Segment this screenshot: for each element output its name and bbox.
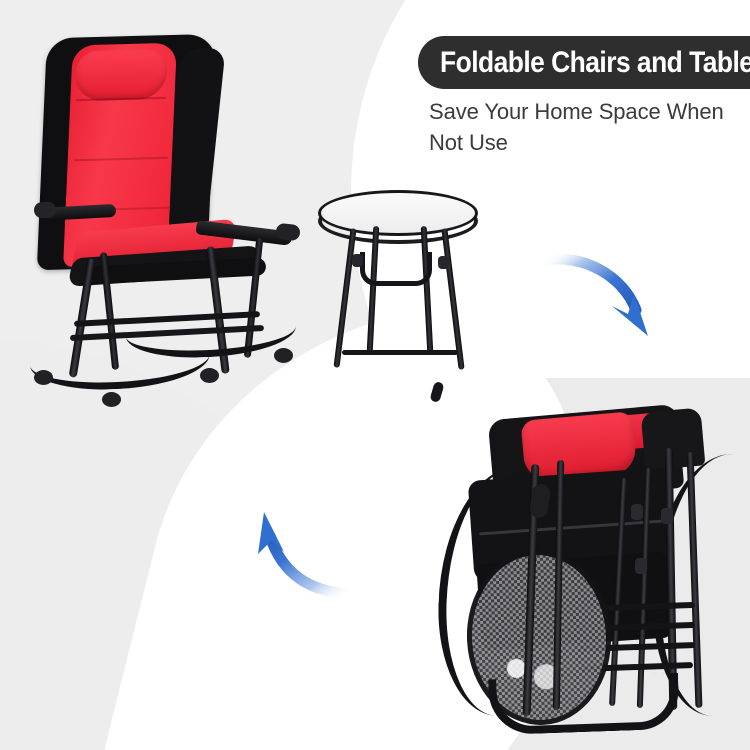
subtitle-text: Save Your Home Space When Not Use	[429, 96, 750, 158]
inset-panel-folded-set	[395, 378, 750, 750]
folded-hinge	[661, 508, 673, 524]
folded-hinge	[631, 504, 643, 520]
table-glass-top	[318, 190, 478, 236]
product-photo-rocking-chair	[18, 30, 318, 400]
table-leg	[333, 228, 356, 368]
folded-bottom-rail	[488, 673, 680, 736]
table-hinge	[352, 254, 363, 267]
folded-hinge	[635, 558, 647, 574]
table-leg	[441, 228, 464, 370]
table-u-brace	[360, 252, 432, 286]
chair-rocker-rail-front	[29, 327, 211, 392]
chair-rocker-foot	[274, 348, 293, 363]
chair-rocker-foot	[102, 392, 121, 407]
arrow-to-setup-icon	[198, 498, 358, 628]
title-banner: Foldable Chairs and Table	[418, 36, 750, 89]
table-leg	[367, 226, 380, 352]
table-lower-brace	[342, 350, 458, 355]
banner-title-text: Foldable Chairs and Table	[440, 48, 750, 78]
chair-armrest-left-cap	[34, 201, 57, 218]
table-hinge	[438, 256, 449, 269]
chair-rocker-foot	[34, 370, 53, 385]
chair-rocker-foot	[200, 368, 219, 383]
chair-headrest-pillow	[74, 49, 168, 101]
product-photo-folded-stack	[435, 408, 735, 738]
folded-backrest-cap	[641, 407, 706, 470]
table-leg	[421, 226, 434, 354]
product-marketing-image: Foldable Chairs and Table Save Your Home…	[0, 0, 750, 750]
arrow-to-folded-icon	[540, 248, 670, 360]
product-photo-bistro-table	[312, 190, 487, 375]
